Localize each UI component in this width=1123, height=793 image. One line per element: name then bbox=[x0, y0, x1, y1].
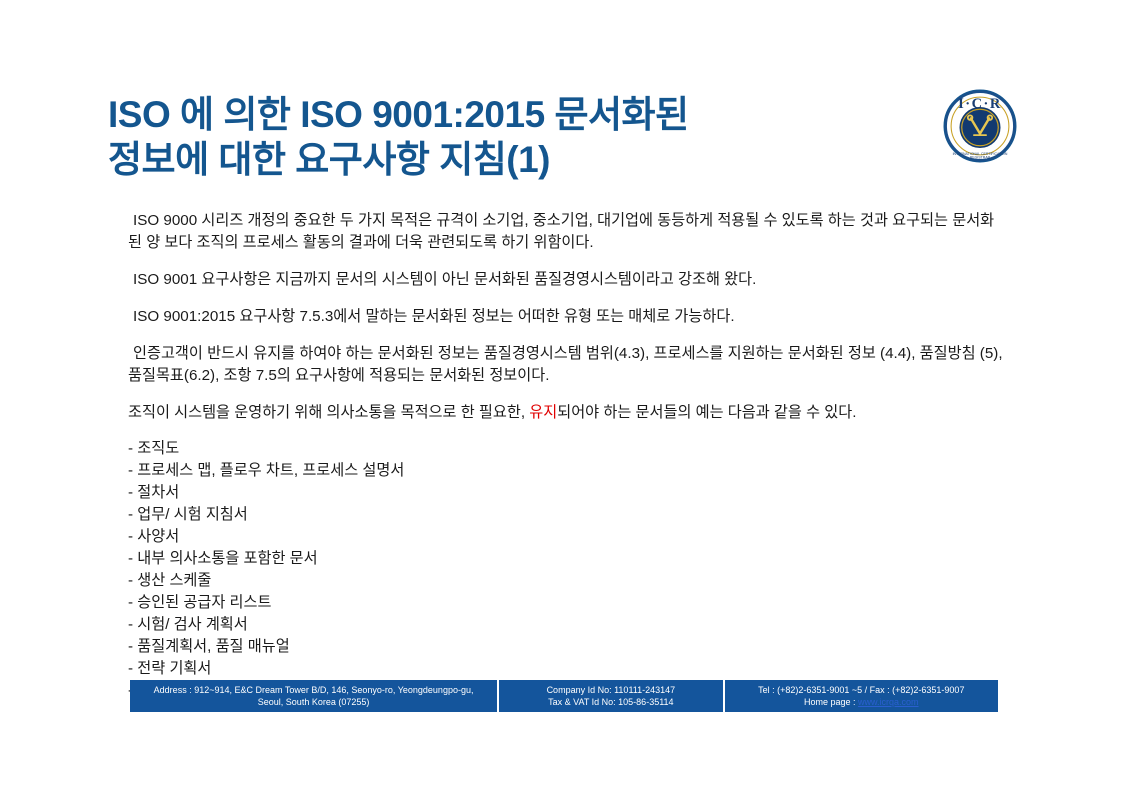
list-intro-highlight: 유지 bbox=[529, 404, 557, 421]
title-line-2: 정보에 대한 요구사항 지침(1) bbox=[108, 137, 908, 182]
list-intro-before: 조직이 시스템을 운영하기 위해 의사소통을 목적으로 한 필요한, bbox=[128, 404, 529, 421]
footer-tel-fax: Tel : (+82)2-6351-9001 ~5 / Fax : (+82)2… bbox=[758, 684, 964, 696]
svg-text:REGISTRAR: REGISTRAR bbox=[970, 156, 991, 160]
footer-bar: Address : 912~914, E&C Dream Tower B/D, … bbox=[130, 680, 998, 712]
list-intro-line: 조직이 시스템을 운영하기 위해 의사소통을 목적으로 한 필요한, 유지되어야… bbox=[128, 402, 1008, 424]
slide-body: ISO 9000 시리즈 개정의 중요한 두 가지 목적은 규격이 소기업, 중… bbox=[128, 210, 1008, 702]
footer-company-cell: Company Id No: 110111-243147 Tax & VAT I… bbox=[497, 680, 724, 712]
list-item: - 생산 스케줄 bbox=[128, 570, 1008, 592]
list-item: - 시험/ 검사 계획서 bbox=[128, 614, 1008, 636]
document-examples-list: - 조직도 - 프로세스 맵, 플로우 차트, 프로세스 설명서 - 절차서 -… bbox=[128, 438, 1008, 702]
footer-address-line-1: Address : 912~914, E&C Dream Tower B/D, … bbox=[154, 684, 474, 696]
list-item: - 사양서 bbox=[128, 526, 1008, 548]
footer-vat-id: Tax & VAT Id No: 105-86-35114 bbox=[548, 696, 673, 708]
icr-logo: I·C·R INTERNATIONAL CERTIFICATION REGIST… bbox=[942, 88, 1018, 164]
paragraph-2: ISO 9001 요구사항은 지금까지 문서의 시스템이 아닌 문서화된 품질경… bbox=[128, 269, 1008, 291]
list-item: - 프로세스 맵, 플로우 차트, 프로세스 설명서 bbox=[128, 460, 1008, 482]
list-item: - 승인된 공급자 리스트 bbox=[128, 592, 1008, 614]
list-item: - 전략 기획서 bbox=[128, 658, 1008, 680]
footer-address-line-2: Seoul, South Korea (07255) bbox=[258, 696, 370, 708]
list-item: - 내부 의사소통을 포함한 문서 bbox=[128, 548, 1008, 570]
svg-text:I·C·R: I·C·R bbox=[958, 96, 1002, 112]
homepage-link[interactable]: www.icrqa.com bbox=[858, 697, 919, 707]
paragraph-1: ISO 9000 시리즈 개정의 중요한 두 가지 목적은 규격이 소기업, 중… bbox=[128, 210, 1008, 254]
list-item: - 절차서 bbox=[128, 482, 1008, 504]
list-item: - 품질계획서, 품질 매뉴얼 bbox=[128, 636, 1008, 658]
page-title: ISO 에 의한 ISO 9001:2015 문서화된 정보에 대한 요구사항 … bbox=[108, 92, 908, 182]
title-line-1: ISO 에 의한 ISO 9001:2015 문서화된 bbox=[108, 92, 908, 137]
paragraph-3: ISO 9001:2015 요구사항 7.5.3에서 말하는 문서화된 정보는 … bbox=[128, 306, 1008, 328]
footer-address-cell: Address : 912~914, E&C Dream Tower B/D, … bbox=[130, 680, 497, 712]
footer-homepage-row: Home page : www.icrqa.com bbox=[804, 696, 919, 708]
footer-company-id: Company Id No: 110111-243147 bbox=[547, 684, 676, 696]
footer-homepage-label: Home page : bbox=[804, 697, 858, 707]
slide-canvas: ISO 에 의한 ISO 9001:2015 문서화된 정보에 대한 요구사항 … bbox=[0, 0, 1123, 793]
list-intro-after: 되어야 하는 문서들의 예는 다음과 같을 수 있다. bbox=[557, 404, 856, 421]
list-item: - 조직도 bbox=[128, 438, 1008, 460]
list-item: - 업무/ 시험 지침서 bbox=[128, 504, 1008, 526]
footer-contact-cell: Tel : (+82)2-6351-9001 ~5 / Fax : (+82)2… bbox=[725, 680, 998, 712]
paragraph-4: 인증고객이 반드시 유지를 하여야 하는 문서화된 정보는 품질경영시스템 범위… bbox=[128, 343, 1008, 387]
